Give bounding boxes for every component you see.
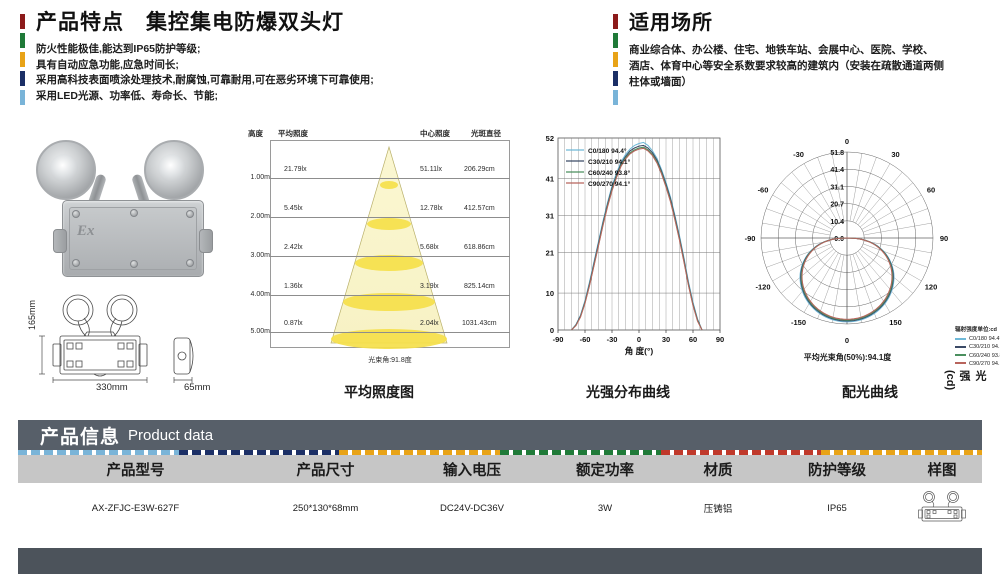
decorative-dash-strip: [18, 450, 982, 455]
polar-caption-note: 平均光束角(50%):94.1度: [740, 352, 955, 363]
svg-text:30: 30: [891, 150, 899, 159]
cell-voltage: DC24V-DC36V: [398, 503, 546, 514]
svg-text:30: 30: [662, 335, 670, 344]
cell-protection: IP65: [772, 503, 902, 514]
illuminance-diameter-value: 206.29cm: [464, 166, 495, 173]
column-header-power: 额定功率: [546, 459, 664, 480]
illuminance-col-avg: 平均照度: [278, 128, 308, 139]
accent-bars-features: [20, 14, 26, 109]
svg-text:-30: -30: [607, 335, 618, 344]
illuminance-center-value: 5.68lx: [420, 244, 439, 251]
svg-text:0.0: 0.0: [834, 236, 844, 243]
polar-legend-item: C30/210 94.1°: [955, 343, 1000, 351]
illuminance-col-height: 高度: [248, 128, 263, 139]
illuminance-chart: 高度 平均照度 中心照度 光斑直径 1.00m 2.00m 3.00m 4.00…: [248, 128, 510, 366]
applications-block: 适用场所 商业综合体、办公楼、住宅、地铁车站、会展中心、医院、学校、 酒店、体育…: [613, 10, 993, 90]
illuminance-chart-caption: 平均照度图: [248, 382, 510, 402]
feature-line: 防火性能极佳,能达到IP65防护等级;: [36, 42, 600, 58]
lamp-housing: Ex: [62, 200, 204, 277]
polar-legend-title: 辐射强度单位:cd: [955, 326, 1000, 334]
column-header-sample: 样图: [902, 459, 982, 480]
svg-text:C0/180 94.4°: C0/180 94.4°: [588, 147, 627, 155]
illuminance-height-tick: 2.00m: [248, 213, 270, 220]
illuminance-center-value: 12.78lx: [420, 205, 443, 212]
svg-text:0: 0: [845, 336, 849, 345]
svg-text:60: 60: [689, 335, 697, 344]
polar-distribution-chart: 0.010.420.731.141.451.8-150-120-90-60-30…: [740, 138, 990, 370]
svg-text:C90/270 94.1°: C90/270 94.1°: [588, 180, 631, 188]
product-data-header: 产品信息 Product data: [18, 420, 982, 450]
illuminance-diameter-value: 825.14cm: [464, 283, 495, 290]
polar-chart-caption: 配光曲线: [760, 382, 980, 402]
svg-text:51.8: 51.8: [830, 150, 844, 157]
illuminance-avg-value: 5.45lx: [284, 205, 303, 212]
svg-text:-90: -90: [553, 335, 564, 344]
illuminance-diameter-value: 412.57cm: [464, 205, 495, 212]
lamp-head-right: [144, 140, 204, 200]
column-header-voltage: 输入电压: [398, 459, 546, 480]
feature-line: 具有自动应急功能,应急时间长;: [36, 58, 600, 74]
product-features-block: 产品特点集控集电防爆双头灯 防火性能极佳,能达到IP65防护等级; 具有自动应急…: [20, 10, 600, 104]
dimension-height-label: 165mm: [27, 300, 37, 330]
features-title: 产品特点集控集电防爆双头灯: [36, 10, 600, 36]
product-spec-sheet: 产品特点集控集电防爆双头灯 防火性能极佳,能达到IP65防护等级; 具有自动应急…: [0, 0, 1000, 580]
svg-text:10: 10: [546, 289, 554, 298]
svg-text:-150: -150: [791, 318, 806, 327]
cell-sample: [902, 490, 982, 527]
product-data-column-header-row: 产品型号 产品尺寸 输入电压 额定功率 材质 防护等级 样图: [18, 455, 982, 483]
illuminance-avg-value: 1.36lx: [284, 283, 303, 290]
cell-size: 250*130*68mm: [253, 503, 398, 514]
illuminance-height-tick: 1.00m: [248, 174, 270, 181]
intensity-chart-caption: 光强分布曲线: [528, 382, 728, 402]
illuminance-center-value: 51.11lx: [420, 166, 442, 173]
illuminance-height-tick: 5.00m: [248, 328, 270, 335]
dimension-drawing: [22, 288, 237, 388]
polar-legend-item: C0/180 94.4°: [955, 335, 1000, 343]
svg-text:20.7: 20.7: [830, 202, 844, 209]
features-title-sub: 集控集电防爆双头灯: [146, 11, 344, 34]
svg-text:-60: -60: [758, 186, 769, 195]
polar-legend-item: C60/240 93.8°: [955, 352, 1000, 360]
svg-text:C60/240 93.8°: C60/240 93.8°: [588, 169, 631, 177]
application-line: 商业综合体、办公楼、住宅、地铁车站、会展中心、医院、学校、: [629, 42, 993, 58]
illuminance-avg-value: 0.87lx: [284, 320, 303, 327]
footer-bar: [18, 548, 982, 574]
illuminance-avg-value: 2.42lx: [284, 244, 303, 251]
sample-thumbnail-icon: [915, 516, 969, 527]
illuminance-center-value: 3.19lx: [420, 283, 439, 290]
lamp-head-left: [36, 140, 96, 200]
dimension-depth-label: 65mm: [184, 382, 210, 393]
svg-text:10.4: 10.4: [830, 219, 844, 226]
svg-text:角 度(°): 角 度(°): [625, 346, 654, 356]
svg-text:-120: -120: [755, 283, 770, 292]
applications-title: 适用场所: [629, 10, 993, 36]
svg-text:90: 90: [716, 335, 724, 344]
column-header-protection: 防护等级: [772, 459, 902, 480]
beam-angle-note: 光束角:91.8度: [270, 355, 510, 365]
svg-text:-60: -60: [580, 335, 591, 344]
product-data-row: AX-ZFJC-E3W-627F 250*130*68mm DC24V-DC36…: [18, 483, 982, 533]
svg-text:31.1: 31.1: [830, 184, 844, 191]
illuminance-col-diameter: 光斑直径: [471, 128, 501, 139]
illuminance-diameter-value: 1031.43cm: [462, 320, 497, 327]
svg-text:90: 90: [940, 234, 948, 243]
product-photo: Ex: [26, 134, 231, 284]
illuminance-avg-value: 21.79lx: [284, 166, 307, 173]
ex-marking: Ex: [77, 223, 95, 240]
product-data-title-en: Product data: [128, 427, 213, 444]
cell-model: AX-ZFJC-E3W-627F: [18, 503, 253, 514]
svg-text:0: 0: [845, 138, 849, 146]
svg-text:31: 31: [546, 212, 554, 221]
polar-legend-item: C90/270 94.1°: [955, 360, 1000, 368]
svg-text:-30: -30: [793, 150, 804, 159]
column-header-material: 材质: [664, 459, 772, 480]
product-data-title-cn: 产品信息: [40, 422, 120, 449]
column-header-size: 产品尺寸: [253, 459, 398, 480]
svg-text:21: 21: [546, 248, 554, 257]
svg-text:52: 52: [546, 134, 554, 143]
features-title-main: 产品特点: [36, 11, 124, 34]
svg-text:0: 0: [637, 335, 641, 344]
feature-line: 采用LED光源、功率低、寿命长、节能;: [36, 89, 600, 105]
svg-text:41.4: 41.4: [830, 167, 844, 174]
svg-text:120: 120: [925, 283, 938, 292]
illuminance-center-value: 2.04lx: [420, 320, 439, 327]
product-data-section: 产品信息 Product data 产品型号 产品尺寸 输入电压 额定功率 材质…: [18, 420, 982, 533]
svg-text:60: 60: [927, 186, 935, 195]
dimension-width-label: 330mm: [96, 382, 128, 393]
cell-power: 3W: [546, 503, 664, 514]
illuminance-height-tick: 4.00m: [248, 291, 270, 298]
application-line: 酒店、体育中心等安全系数要求较高的建筑内（安装在疏散通道两侧: [629, 58, 993, 74]
cell-material: 压铸铝: [664, 501, 772, 515]
illuminance-col-center: 中心照度: [420, 128, 450, 139]
feature-line: 采用高科技表面喷涂处理技术,耐腐蚀,可靠耐用,可在恶劣环境下可靠使用;: [36, 73, 600, 89]
column-header-model: 产品型号: [18, 459, 253, 480]
svg-text:41: 41: [546, 175, 554, 184]
svg-text:C30/210 94.1°: C30/210 94.1°: [588, 158, 631, 166]
svg-text:0: 0: [550, 326, 554, 335]
application-line: 柱体或墙面）: [629, 74, 993, 90]
illuminance-height-tick: 3.00m: [248, 252, 270, 259]
svg-text:-90: -90: [745, 234, 756, 243]
accent-bars-applications: [613, 14, 619, 109]
svg-text:150: 150: [889, 318, 902, 327]
polar-legend: 辐射强度单位:cd C0/180 94.4° C30/210 94.1° C60…: [955, 326, 1000, 368]
intensity-distribution-chart: 01021314152-90-60-300306090角 度(°)C0/180 …: [528, 128, 728, 368]
illuminance-diameter-value: 618.86cm: [464, 244, 495, 251]
